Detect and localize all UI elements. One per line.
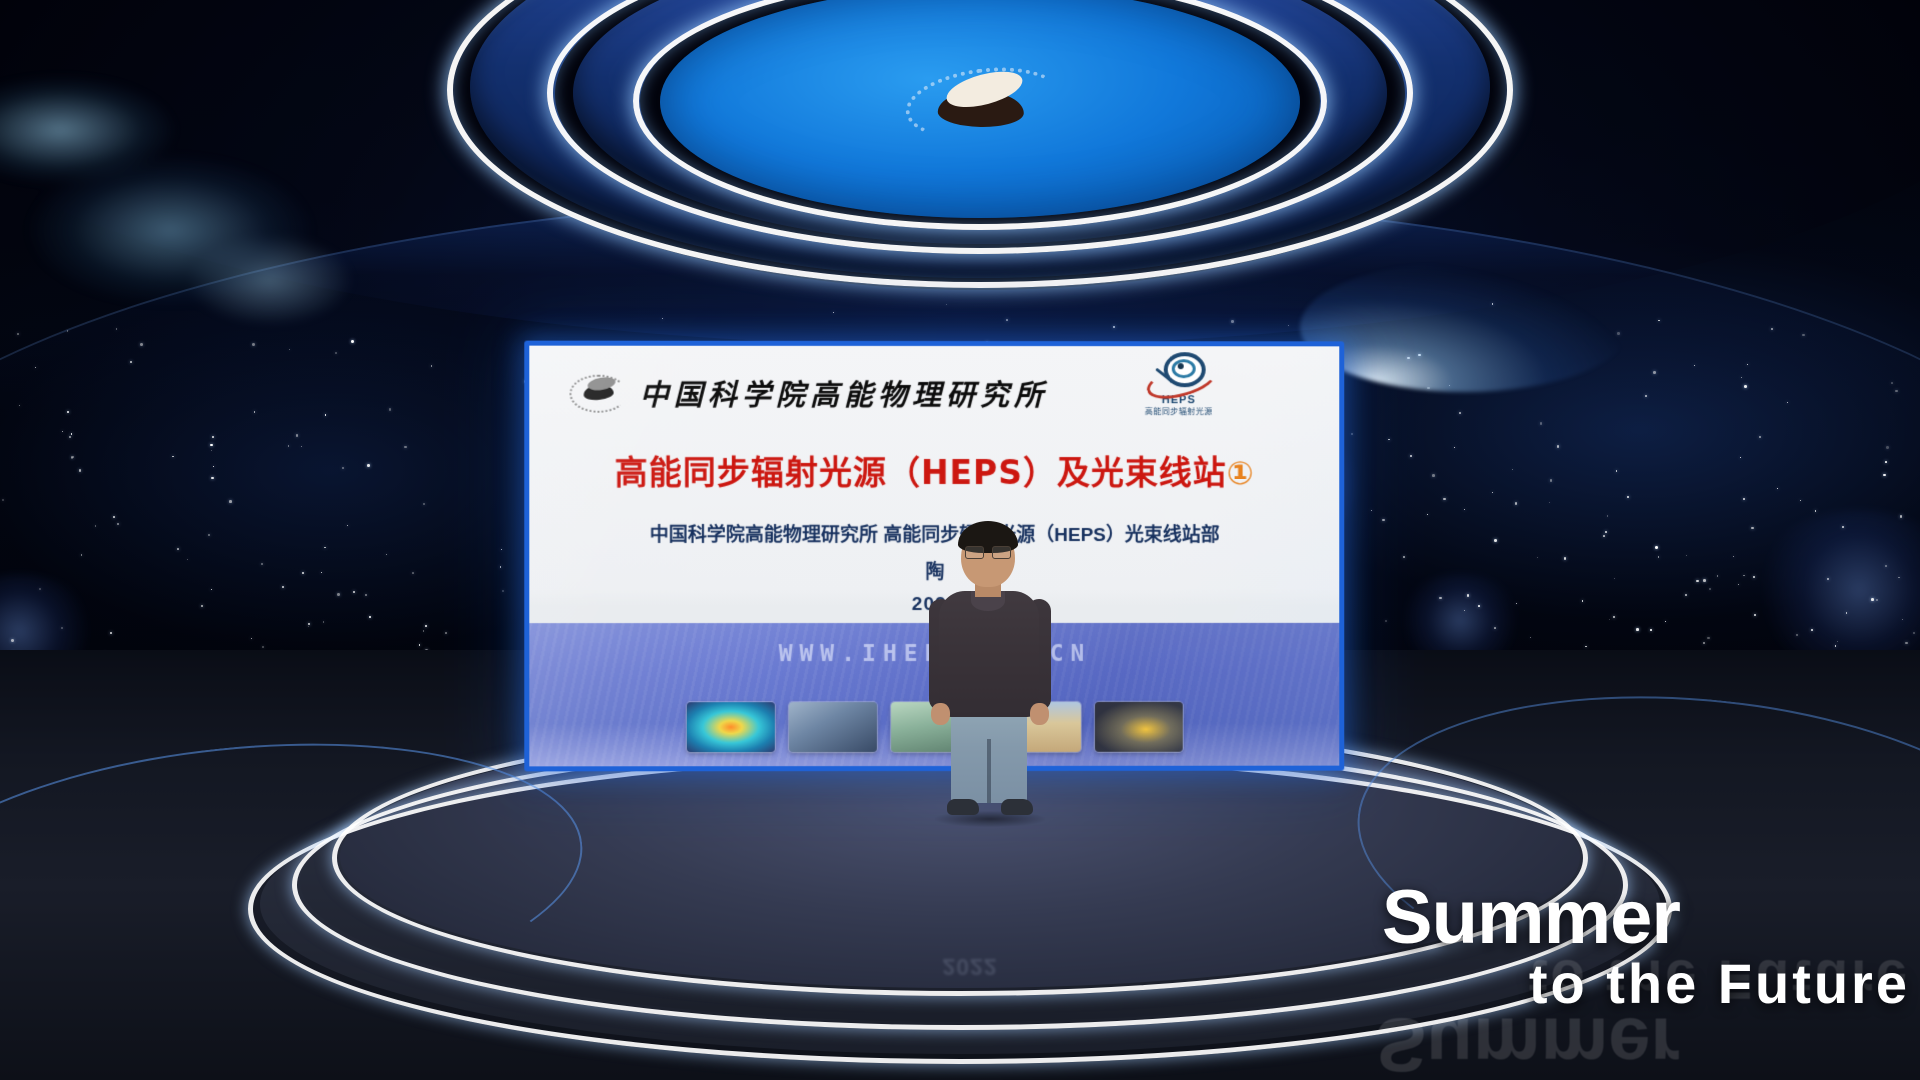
brand-overlay: Summer to the Future: [1382, 881, 1910, 1012]
slide-floor-reflection: 2022: [760, 800, 1180, 980]
detector-interior-thumb: [1095, 702, 1183, 752]
floor-reflection-text: 2022: [760, 953, 1180, 980]
heps-ring-icon: [1144, 352, 1214, 396]
ihep-swirl-icon: [565, 373, 627, 413]
slide-title-text: 高能同步辐射光源（HEPS）及光束线站: [614, 453, 1226, 492]
slide-title: 高能同步辐射光源（HEPS）及光束线站①: [529, 446, 1339, 494]
presenter-shoe-right: [1001, 799, 1033, 815]
slide-header: 中国科学院高能物理研究所 HEPS 高能同步辐射光源: [529, 346, 1339, 437]
ceiling-ring-fixture: [455, 0, 1505, 310]
ihep-logo-text: 中国科学院高能物理研究所: [640, 372, 1048, 414]
presenter-shoe-left: [947, 799, 979, 815]
presenter-figure: [915, 525, 1065, 820]
nebula-cloud: [0, 40, 400, 340]
accelerator-tunnel-thumb: [789, 702, 877, 752]
ihep-logo: 中国科学院高能物理研究所: [565, 372, 1048, 414]
studio-scene: 2022 中国科学院高能物理研究所: [0, 0, 1920, 1080]
detector-cross-section-thumb: [687, 702, 775, 752]
heps-logo: HEPS 高能同步辐射光源: [1136, 352, 1222, 417]
brand-line2: to the Future: [1382, 957, 1910, 1012]
slide-title-marker: ①: [1227, 454, 1255, 492]
ihep-swirl-icon-ceiling: [891, 53, 1069, 151]
presenter-glasses-icon: [965, 546, 1011, 558]
brand-line1: Summer: [1382, 881, 1680, 955]
heps-logo-cn: 高能同步辐射光源: [1136, 406, 1222, 417]
